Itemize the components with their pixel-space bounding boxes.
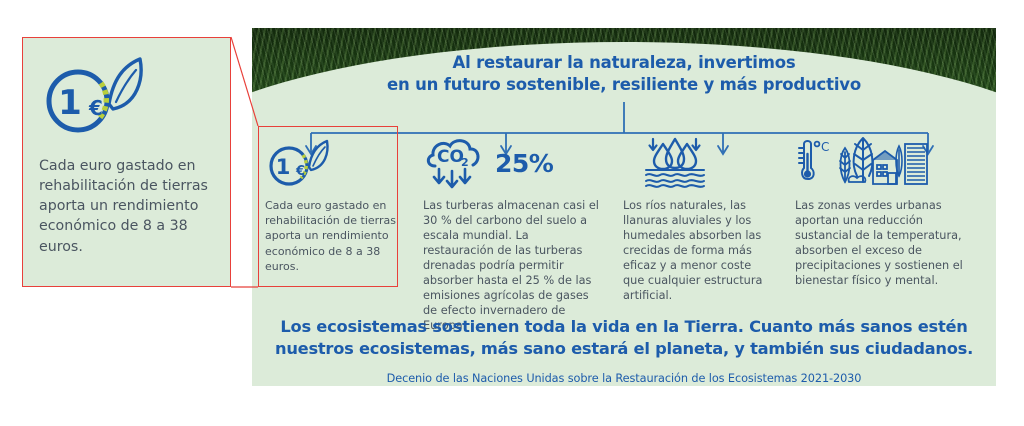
icon-row <box>623 134 771 192</box>
headline-line-1: Al restaurar la naturaleza, invertimos <box>252 52 996 74</box>
columns-container: 1 € Cada euro gastado en rehabilitación … <box>252 124 996 333</box>
celsius-label: C <box>821 140 829 154</box>
footer-line-1: Los ecosistemas sostienen toda la vida e… <box>258 316 990 338</box>
column-rivers-wetlands: Los ríos naturales, las llanuras aluvial… <box>617 124 783 303</box>
column-land-restoration: 1 € Cada euro gastado en rehabilitación … <box>257 124 409 274</box>
column-peatlands-carbon: CO 2 25% Las turberas almacenan casi el … <box>419 124 609 333</box>
column-body-text: Las turberas almacenan casi el 30 % del … <box>423 198 599 333</box>
coin-currency-small: € <box>295 164 305 179</box>
icon-row: CO 2 25% <box>423 134 599 192</box>
column-body-text: Cada euro gastado en rehabilitación de t… <box>265 198 401 274</box>
icon-row: 1 € <box>265 134 401 192</box>
footer-headline: Los ecosistemas sostienen toda la vida e… <box>252 316 996 361</box>
thermometer-city-trees-icon: C <box>795 134 930 192</box>
co2-cloud-down-arrows-icon: CO 2 <box>423 135 485 191</box>
footer: Los ecosistemas sostienen toda la vida e… <box>252 316 996 385</box>
coin-value-large: 1 <box>58 83 82 123</box>
coin-value-small: 1 <box>276 155 291 179</box>
footer-line-2: nuestros ecosistemas, más sano estará el… <box>258 338 990 360</box>
infographic-panel: Al restaurar la naturaleza, invertimos e… <box>252 28 996 386</box>
footer-subtitle: Decenio de las Naciones Unidas sobre la … <box>252 372 996 385</box>
stat-value: 25% <box>495 149 553 178</box>
column-body-text: Los ríos naturales, las llanuras aluvial… <box>623 198 771 303</box>
callout-body-text: Cada euro gastado en rehabilitación de t… <box>39 156 216 257</box>
magnified-callout-card: 1 € Cada euro gastado en rehabilitación … <box>22 37 231 287</box>
coin-currency-large: € <box>88 96 103 120</box>
co2-label: CO <box>437 147 464 167</box>
headline-line-2: en un futuro sostenible, resiliente y má… <box>252 74 996 96</box>
co2-subscript: 2 <box>461 156 469 169</box>
column-body-text: Las zonas verdes urbanas aportan una red… <box>795 198 975 288</box>
euro-coin-leaf-icon-large: 1 € <box>39 54 149 136</box>
page-title: Al restaurar la naturaleza, invertimos e… <box>252 52 996 96</box>
euro-coin-leaf-icon: 1 € <box>265 137 331 189</box>
water-droplets-waves-icon <box>643 136 707 190</box>
icon-row: C <box>795 134 975 192</box>
column-urban-green-areas: C <box>789 124 985 288</box>
